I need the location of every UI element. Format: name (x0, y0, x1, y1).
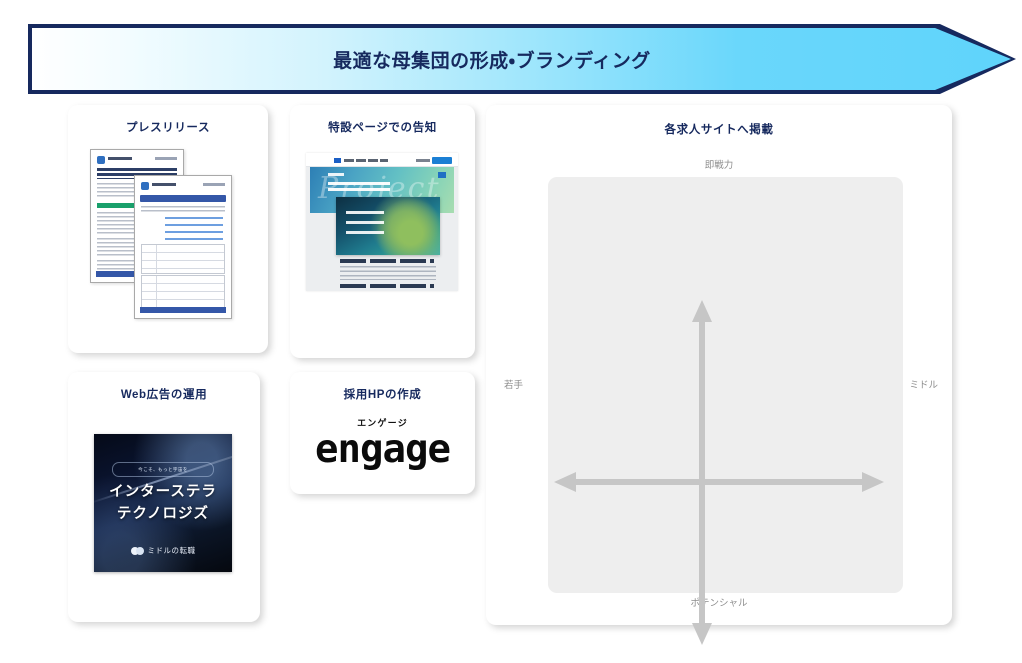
banner-title: 最適な母集団の形成・ブランディング (28, 24, 1016, 94)
screenshot-hero-badge (438, 172, 446, 178)
screenshot-section-body (340, 266, 436, 280)
card-press-release-title: プレスリリース (68, 119, 268, 135)
screenshot-nav-button (432, 157, 452, 164)
document-logo-text (108, 157, 142, 160)
screenshot-navbar (306, 153, 458, 167)
en-logo-icon (131, 547, 144, 555)
web-ad-banner-image: 今こそ、もっと宇宙を インターステラ テクノロジズ ミドルの転職 (94, 434, 232, 572)
screenshot-hero-label (328, 173, 344, 176)
document-body-lines (141, 206, 225, 213)
quadrant-axis-label-bottom: ポテンシャル (486, 595, 952, 609)
screenshot-section-heading (340, 259, 434, 263)
document-table (141, 244, 225, 274)
web-ad-footer: ミドルの転職 (94, 545, 232, 556)
web-ad-headline-line1: インターステラ (94, 482, 232, 504)
document-footer-bar (140, 307, 226, 313)
quadrant-title: 各求人サイトへ掲載 (486, 121, 952, 137)
card-press-release: プレスリリース (68, 105, 268, 353)
banner-arrow-container: 最適な母集団の形成・ブランディング (28, 24, 1016, 94)
press-document-front (134, 175, 232, 319)
screenshot-nav-logo-icon (334, 158, 341, 163)
screenshot-nav-right-text (416, 159, 430, 162)
card-web-advertising-title: Web広告の運用 (68, 386, 260, 402)
screenshot-hero-copy (328, 182, 390, 194)
document-blue-title-bar (140, 195, 226, 202)
document-date-line (155, 157, 177, 160)
quadrant-horizontal-axis-arrow (554, 471, 884, 493)
web-ad-footer-text: ミドルの転職 (148, 545, 196, 556)
document-logo-text (152, 183, 186, 186)
web-ad-badge: 今こそ、もっと宇宙を (112, 462, 214, 477)
card-special-page: 特設ページでの告知 Project (290, 105, 475, 358)
web-ad-headline-line2: テクノロジズ (94, 504, 232, 526)
card-recruit-homepage-title: 採用HPの作成 (290, 386, 475, 402)
document-link-lines (165, 217, 223, 240)
card-recruit-homepage: 採用HPの作成 エンゲージ engage (290, 372, 475, 494)
special-landing-page-screenshot: Project (306, 153, 458, 291)
quadrant-plot-area (548, 177, 903, 593)
card-job-site-quadrant: 各求人サイトへ掲載 即戦力 ポテンシャル 若手 ミドル AMBI e n ミドル… (486, 105, 952, 625)
document-logo-icon (141, 182, 149, 190)
screenshot-nav-text (344, 159, 388, 162)
card-web-advertising: Web広告の運用 今こそ、もっと宇宙を インターステラ テクノロジズ ミドルの転… (68, 372, 260, 622)
web-ad-headline: インターステラ テクノロジズ (94, 482, 232, 526)
screenshot-section-heading (340, 284, 434, 288)
screenshot-earth-photo (336, 197, 440, 255)
quadrant-axis-label-top: 即戦力 (486, 157, 952, 171)
quadrant-axis-label-left: 若手 (504, 377, 523, 391)
document-logo-icon (97, 156, 105, 164)
press-release-documents (82, 147, 254, 337)
card-special-page-title: 特設ページでの告知 (290, 119, 475, 135)
web-ad-badge-text: 今こそ、もっと宇宙を (138, 466, 188, 472)
engage-logo: エンゲージ engage (290, 416, 475, 469)
screenshot-photo-overlay-text (346, 211, 384, 235)
engage-logo-wordmark: engage (290, 430, 475, 469)
document-date-line (203, 183, 225, 186)
quadrant-axis-label-right: ミドル (909, 377, 938, 391)
